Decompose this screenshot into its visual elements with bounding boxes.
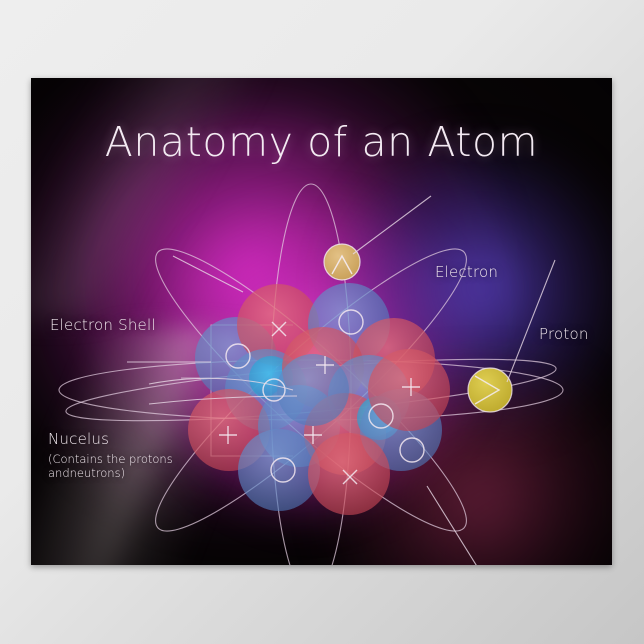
label-nucleus-subtitle: (Contains the protons andneutrons) <box>48 452 198 480</box>
nucleus-neutron <box>277 354 349 426</box>
nucleus-neutron <box>238 429 320 511</box>
poster-artwork: Anatomy of an Atom <box>31 78 612 565</box>
particle-electron <box>324 244 360 280</box>
label-electron: Electron <box>435 263 498 281</box>
label-electron-shell: Electron Shell <box>50 316 156 334</box>
leader-shell <box>173 256 243 292</box>
leader-electron <box>353 196 431 254</box>
proton-body <box>468 368 512 412</box>
nucleus-proton <box>308 433 390 515</box>
screenshot-root: Anatomy of an Atom <box>0 0 644 644</box>
nucleus-cluster <box>188 283 450 515</box>
electron-body <box>324 244 360 280</box>
label-nucleus: Nucelus <box>48 430 109 448</box>
label-proton: Proton <box>539 325 589 343</box>
nucleus-proton <box>368 349 450 431</box>
particle-proton <box>468 368 512 412</box>
leader-neutron <box>427 486 483 565</box>
